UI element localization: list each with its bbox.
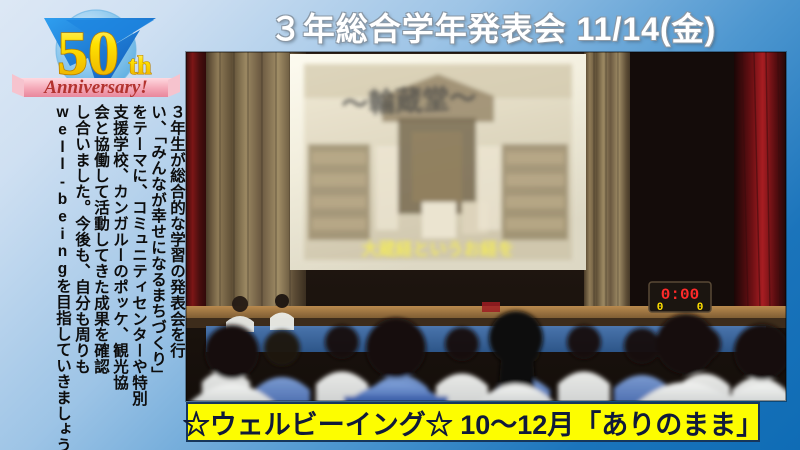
right-gold-curtain bbox=[584, 52, 632, 310]
vertical-text-line: をテーマに、コミュニティセンターや特別 bbox=[127, 104, 146, 448]
backstage-dark bbox=[630, 52, 740, 310]
logo-ribbon-label: Anniversary! bbox=[43, 77, 147, 98]
left-red-curtain bbox=[186, 52, 208, 310]
vertical-body-text: ３年生が総合的な学習の発表会を行 い、「みんなが幸せになるまちづくり」 をテーマ… bbox=[2, 104, 184, 448]
scoreboard-left-score: 0 bbox=[657, 302, 664, 314]
audience-head bbox=[656, 314, 716, 374]
50th-anniversary-logo: 50 th Anniversary! bbox=[8, 2, 184, 106]
vertical-text-line: し合いました。今後も、自分も周りも bbox=[70, 104, 89, 448]
audience-head bbox=[205, 325, 259, 379]
vertical-text-line: 会と協働して活動してきた成果を確認 bbox=[89, 104, 108, 448]
scoreboard-time: 0:00 bbox=[661, 286, 699, 304]
projection-screen: ～輪蔵堂～ 大蔵経というお経を bbox=[290, 54, 586, 270]
vertical-text-line: い、「みんなが幸せになるまちづくり」 bbox=[146, 104, 165, 448]
audience-head bbox=[366, 318, 426, 378]
scoreboard-right-score: 0 bbox=[697, 302, 704, 314]
vertical-text-line: ３年生が総合的な学習の発表会を行 bbox=[165, 104, 184, 448]
scoreboard: 0:00 0 0 bbox=[649, 282, 711, 314]
projector-caption: 大蔵経というお経を bbox=[362, 239, 515, 259]
event-photo: ～輪蔵堂～ 大蔵経というお経を 0:00 0 0 bbox=[186, 52, 786, 401]
vertical-text-line: well-beingを目指していきましょう。 bbox=[51, 104, 70, 448]
wellbeing-caption-banner: ☆ウェルビーイング☆ 10～12月「ありのまま」 bbox=[186, 402, 760, 442]
vertical-text-line: 支援学校、カンガルーのポッケ、観光協 bbox=[108, 104, 127, 448]
presentation-slide: 50 th Anniversary! ３年総合学年発表会 11/14(金) ３年… bbox=[0, 0, 800, 450]
page-title: ３年総合学年発表会 11/14(金) bbox=[186, 2, 800, 52]
exit-sign bbox=[482, 302, 500, 312]
logo-ordinal: th bbox=[128, 51, 152, 80]
